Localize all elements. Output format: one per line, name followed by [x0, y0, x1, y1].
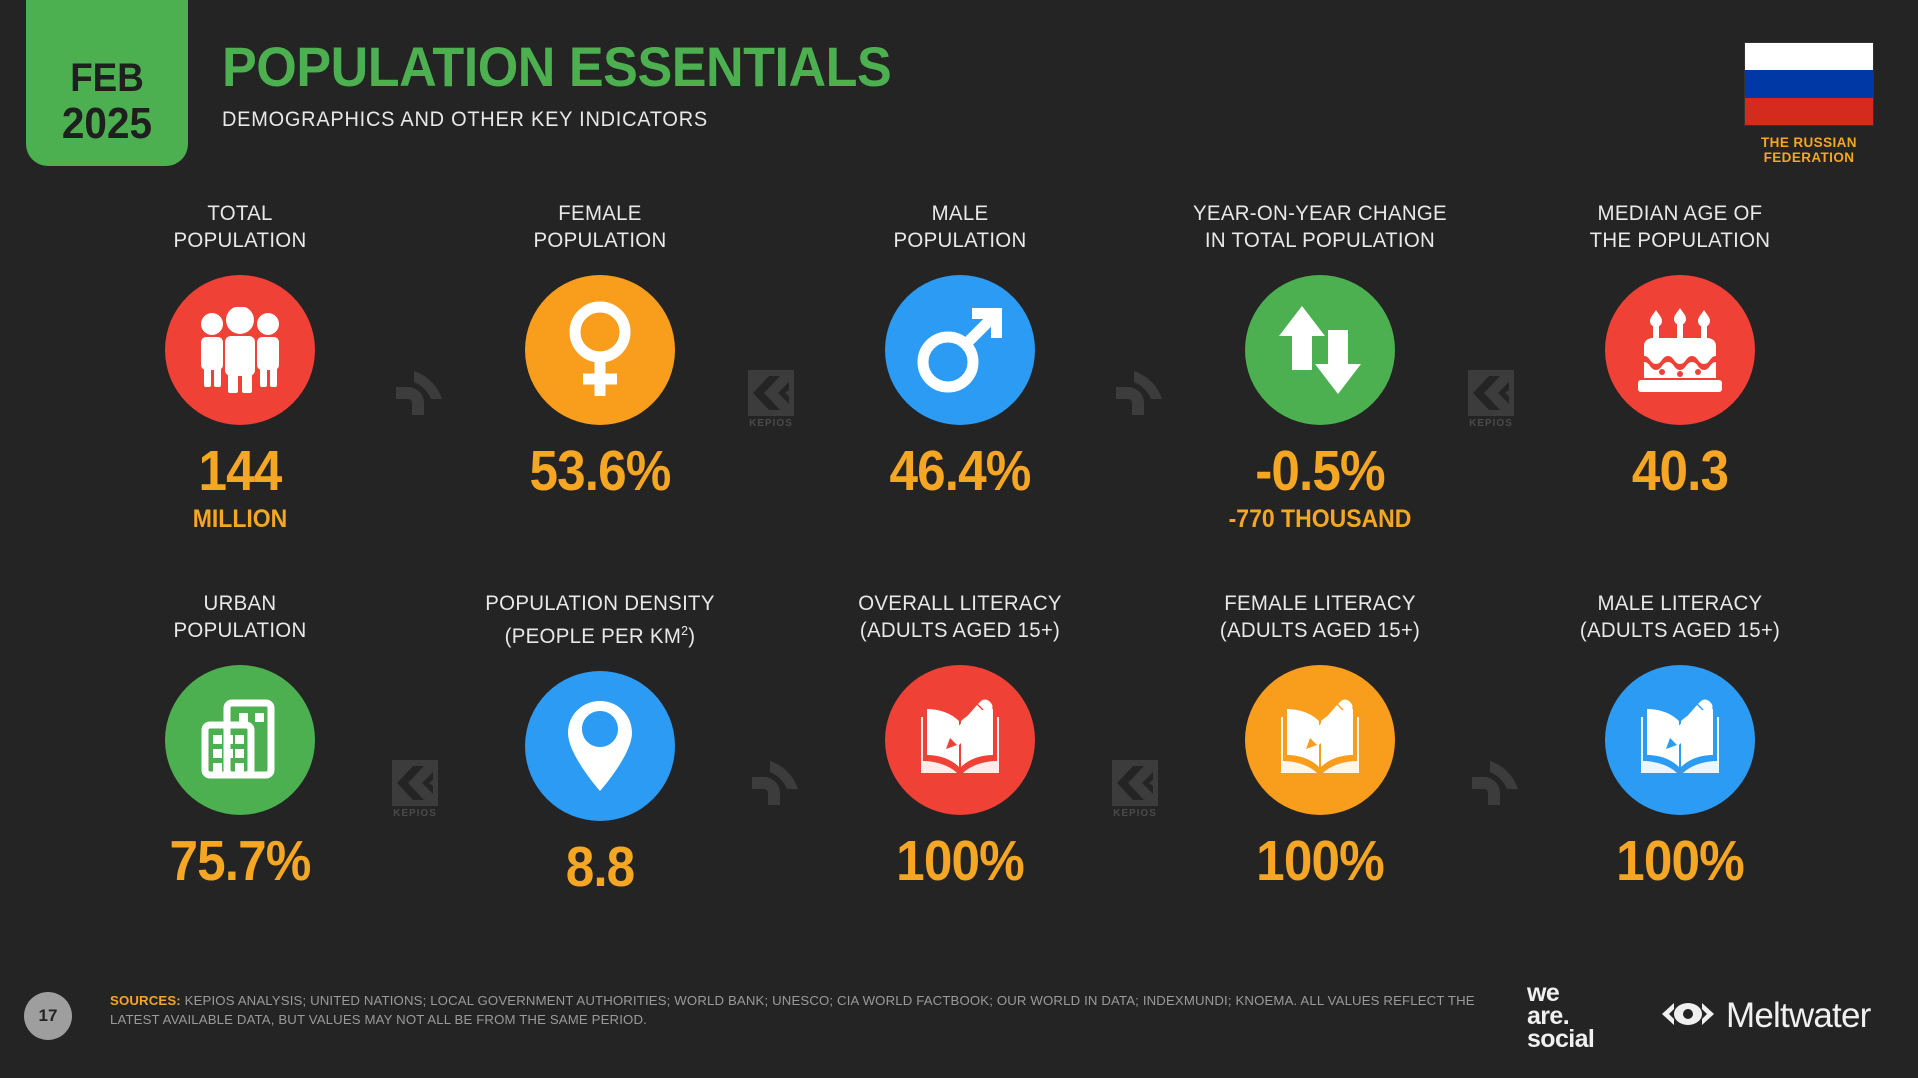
page-subtitle: DEMOGRAPHICS AND OTHER KEY INDICATORS [222, 108, 708, 132]
sources-text: SOURCES: KEPIOS ANALYSIS; UNITED NATIONS… [110, 991, 1490, 1029]
country-block: THE RUSSIAN FEDERATION [1744, 42, 1874, 165]
kepios-logo-icon: KEPIOS [1468, 370, 1514, 429]
metric-label: MALE LITERACY(ADULTS AGED 15+) [1538, 590, 1823, 644]
metric-value: 100% [1545, 831, 1815, 891]
metric-total-population: TOTALPOPULATION 144 MILLION [90, 200, 390, 534]
kepios-logo-icon: KEPIOS [1112, 760, 1158, 819]
metric-male-population: MALEPOPULATION 46.4% [810, 200, 1110, 505]
people-group-icon [165, 275, 315, 425]
page-number: 17 [24, 992, 72, 1040]
datareportal-logo-icon [392, 365, 448, 417]
book-pencil-icon [885, 665, 1035, 815]
sources-label: SOURCES: [110, 993, 181, 1008]
kepios-label: KEPIOS [392, 808, 438, 819]
datareportal-logo-icon [1112, 365, 1168, 417]
metric-population-density: POPULATION DENSITY (PEOPLE PER KM2) 8.8 [450, 590, 750, 901]
male-symbol-icon [885, 275, 1035, 425]
metrics-row-2: URBANPOPULATION 75.7% KEPIOS POPULATIO [0, 590, 1918, 940]
metric-male-literacy: MALE LITERACY(ADULTS AGED 15+) 100% [1530, 590, 1830, 895]
book-pencil-icon [1605, 665, 1755, 815]
book-pencil-icon [1245, 665, 1395, 815]
footer: 17 SOURCES: KEPIOS ANALYSIS; UNITED NATI… [0, 968, 1918, 1078]
metric-sub-value: -770 THOUSAND [1182, 505, 1458, 534]
datareportal-logo-icon [1468, 755, 1524, 807]
metric-label: URBANPOPULATION [98, 590, 383, 644]
metric-sub-value: MILLION [102, 505, 378, 534]
was-line3: social [1527, 1028, 1594, 1051]
metric-urban-population: URBANPOPULATION 75.7% [90, 590, 390, 895]
kepios-label: KEPIOS [748, 418, 794, 429]
metric-female-population: FEMALEPOPULATION 53.6% [450, 200, 750, 505]
map-pin-icon [525, 671, 675, 821]
metric-label: POPULATION DENSITY (PEOPLE PER KM2) [458, 590, 743, 650]
date-year: 2025 [62, 100, 152, 148]
metric-median-age: MEDIAN AGE OFTHE POPULATION 40.3 [1530, 200, 1830, 505]
meltwater-eye-icon [1660, 996, 1716, 1036]
metric-value: 40.3 [1545, 441, 1815, 501]
birthday-cake-icon [1605, 275, 1755, 425]
metric-label: MALEPOPULATION [818, 200, 1103, 254]
metric-label: FEMALEPOPULATION [458, 200, 743, 254]
kepios-label: KEPIOS [1112, 808, 1158, 819]
metric-label: MEDIAN AGE OFTHE POPULATION [1538, 200, 1823, 254]
country-name: THE RUSSIAN FEDERATION [1744, 135, 1874, 165]
page-title: POPULATION ESSENTIALS [222, 34, 891, 99]
metric-label: TOTALPOPULATION [98, 200, 383, 254]
metric-value: 144 [105, 441, 375, 501]
date-month: FEB [70, 56, 144, 100]
date-badge: FEB 2025 [26, 0, 188, 166]
metric-value: 53.6% [465, 441, 735, 501]
metric-value: 8.8 [465, 837, 735, 897]
metric-value: 46.4% [825, 441, 1095, 501]
city-buildings-icon [165, 665, 315, 815]
up-down-arrows-icon [1245, 275, 1395, 425]
meltwater-wordmark: Meltwater [1726, 996, 1871, 1036]
metric-yoy-change: YEAR-ON-YEAR CHANGEIN TOTAL POPULATION -… [1170, 200, 1470, 534]
kepios-logo-icon: KEPIOS [748, 370, 794, 429]
metric-label: YEAR-ON-YEAR CHANGEIN TOTAL POPULATION [1178, 200, 1463, 254]
metric-value: 100% [1185, 831, 1455, 891]
we-are-social-logo: we are. social [1527, 982, 1594, 1051]
female-symbol-icon [525, 275, 675, 425]
kepios-label: KEPIOS [1468, 418, 1514, 429]
russia-flag-icon [1744, 42, 1874, 126]
metric-label: FEMALE LITERACY(ADULTS AGED 15+) [1178, 590, 1463, 644]
metric-value: -0.5% [1185, 441, 1455, 501]
datareportal-logo-icon [748, 755, 804, 807]
metric-label: OVERALL LITERACY(ADULTS AGED 15+) [818, 590, 1103, 644]
kepios-logo-icon: KEPIOS [392, 760, 438, 819]
metric-female-literacy: FEMALE LITERACY(ADULTS AGED 15+) 100% [1170, 590, 1470, 895]
header: FEB 2025 POPULATION ESSENTIALS DEMOGRAPH… [0, 0, 1918, 175]
meltwater-logo: Meltwater [1660, 996, 1871, 1036]
sources-body: KEPIOS ANALYSIS; UNITED NATIONS; LOCAL G… [110, 993, 1475, 1027]
metric-overall-literacy: OVERALL LITERACY(ADULTS AGED 15+) 100% [810, 590, 1110, 895]
metrics-row-1: TOTALPOPULATION 144 MILLION [0, 200, 1918, 550]
metric-value: 100% [825, 831, 1095, 891]
metric-value: 75.7% [105, 831, 375, 891]
